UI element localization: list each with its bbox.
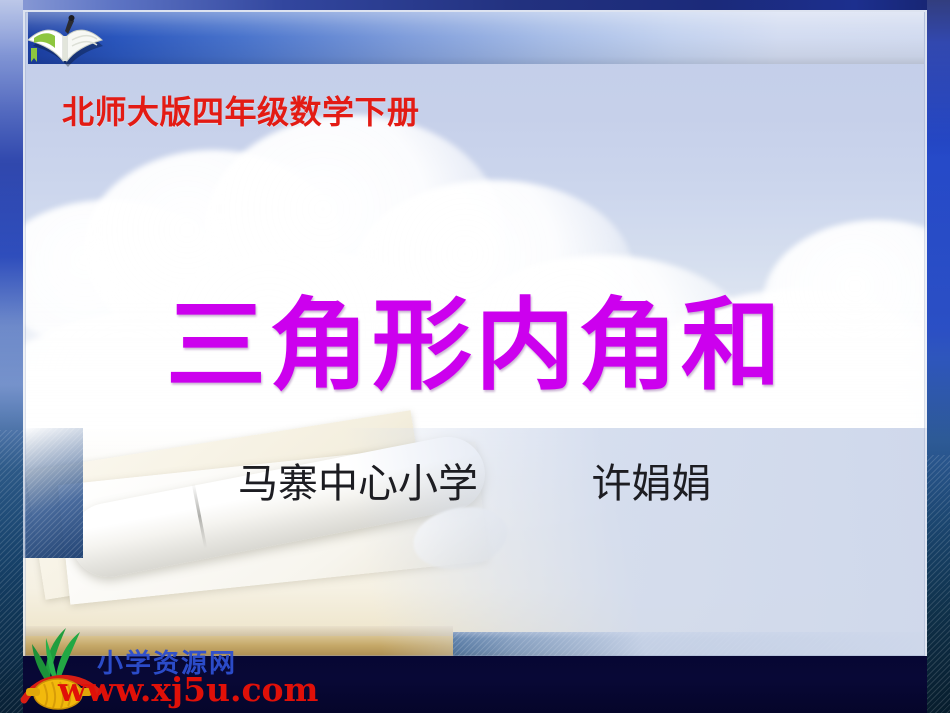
open-book-icon (24, 12, 108, 78)
page-title: 三角形内角和 (0, 286, 950, 404)
subject-line: 北师大版四年级数学下册 (62, 92, 420, 132)
watermark-url: www.xj5u.com (58, 672, 318, 708)
presenter-line: 马寨中心小学 许娟娟 (238, 458, 711, 510)
presentation-slide: 北师大版四年级数学下册 三角形内角和 马寨中心小学 许娟娟 (0, 0, 950, 713)
frame-top-border (0, 0, 950, 10)
header-bar-gloss (28, 12, 924, 64)
frame-right-texture (927, 455, 950, 713)
school-name: 马寨中心小学 (238, 461, 478, 507)
presenter-name: 许娟娟 (591, 461, 711, 507)
